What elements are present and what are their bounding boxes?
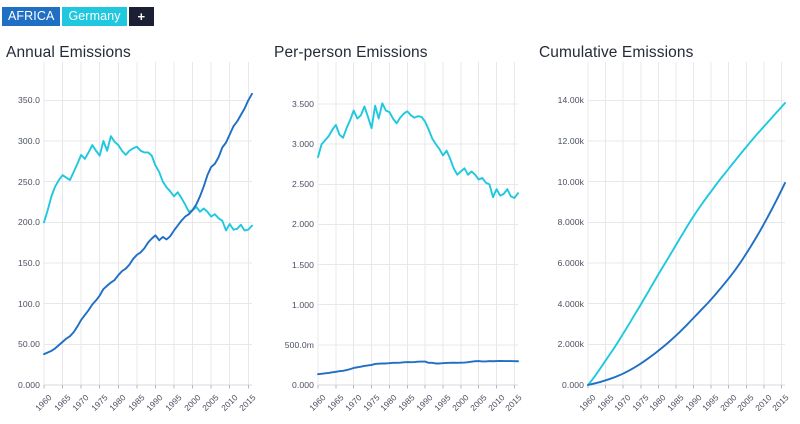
series-line-africa [44,94,252,354]
tag-germany[interactable]: Germany [62,7,126,26]
y-tick-label: 3.500 [266,99,314,109]
x-tick-label: 1965 [577,392,615,424]
y-tick-label: 10.00k [532,177,584,187]
x-axis-labels-cumulative: 1960196519701975198019851990199520002005… [532,388,798,422]
y-tick-label: 8.000k [532,217,584,227]
tag-africa[interactable]: AFRICA [2,7,60,26]
panel-per-person-emissions: Per-person Emissions 0.000500.0m1.0001.5… [266,36,532,424]
y-tick-label: 12.00k [532,136,584,146]
y-tick-label: 14.00k [532,95,584,105]
y-tick-label: 500.0m [266,340,314,350]
x-tick-label: 1970 [595,392,633,424]
plot-cumulative-emissions [588,80,785,385]
chart-svg-annual [44,80,252,385]
y-tick-label: 350.0 [0,95,40,105]
series-line-germany [588,103,785,385]
x-tick-label: 1980 [630,392,668,424]
x-tick-label: 1990 [665,392,703,424]
x-tick-label: 1985 [108,392,146,424]
y-tick-label: 1.500 [266,260,314,270]
x-tick-label: 1980 [361,392,399,424]
x-tick-label: 1970 [53,392,91,424]
x-tick-label: 1960 [289,392,327,424]
y-tick-label: 100.0 [0,299,40,309]
panel-annual-emissions: Annual Emissions 0.00050.00100.0150.0200… [0,36,266,424]
x-tick-label: 1960 [15,392,53,424]
y-tick-label: 2.000 [266,219,314,229]
x-axis-labels-annual: 1960196519701975198019851990199520002005… [0,388,266,422]
x-tick-label: 2015 [220,392,258,424]
x-tick-label: 1960 [559,392,597,424]
y-tick-label: 50.00 [0,339,40,349]
x-tick-label: 1990 [127,392,165,424]
x-tick-label: 1985 [647,392,685,424]
plot-per-person-emissions [318,80,518,385]
x-tick-label: 1980 [90,392,128,424]
add-series-button[interactable]: + [129,7,155,26]
series-line-africa [588,183,785,385]
panel-title-per-person: Per-person Emissions [274,44,428,62]
y-tick-label: 150.0 [0,258,40,268]
x-tick-label: 2005 [183,392,221,424]
panel-title-annual: Annual Emissions [6,44,131,62]
x-tick-label: 2015 [753,392,791,424]
y-tick-label: 1.000 [266,300,314,310]
panel-cumulative-emissions: Cumulative Emissions 0.0002.000k4.000k6.… [532,36,798,424]
dashboard-page: AFRICA Germany + Annual Emissions 0.0005… [0,0,800,424]
x-tick-label: 1995 [683,392,721,424]
x-tick-label: 1990 [397,392,435,424]
chart-svg-cumulative [588,80,785,385]
y-tick-label: 3.000 [266,139,314,149]
x-tick-label: 1975 [343,392,381,424]
x-tick-label: 1975 [71,392,109,424]
y-tick-label: 4.000k [532,299,584,309]
x-tick-label: 2000 [700,392,738,424]
x-tick-label: 2000 [432,392,470,424]
x-tick-label: 1965 [34,392,72,424]
y-tick-label: 0.000 [0,380,40,390]
x-tick-label: 2005 [718,392,756,424]
y-tick-label: 250.0 [0,177,40,187]
y-tick-label: 300.0 [0,136,40,146]
x-tick-label: 1965 [307,392,345,424]
y-tick-label: 0.000 [266,380,314,390]
x-tick-label: 2010 [735,392,773,424]
y-tick-label: 2.000k [532,339,584,349]
x-tick-label: 1975 [612,392,650,424]
y-tick-label: 2.500 [266,179,314,189]
x-tick-label: 1985 [379,392,417,424]
tag-filter-bar: AFRICA Germany + [2,7,154,26]
x-axis-labels-per-person: 1960196519701975198019851990199520002005… [266,388,532,422]
x-tick-label: 2000 [164,392,202,424]
series-line-africa [318,361,518,374]
x-tick-label: 2010 [201,392,239,424]
y-tick-label: 0.000 [532,380,584,390]
x-tick-label: 1970 [325,392,363,424]
y-tick-label: 200.0 [0,217,40,227]
chart-svg-per-person [318,80,518,385]
series-line-germany [318,103,518,198]
x-tick-label: 2015 [486,392,524,424]
plot-annual-emissions [44,80,252,385]
x-tick-label: 1995 [145,392,183,424]
charts-row: Annual Emissions 0.00050.00100.0150.0200… [0,36,800,424]
panel-title-cumulative: Cumulative Emissions [539,44,693,62]
x-tick-label: 2010 [468,392,506,424]
y-tick-label: 6.000k [532,258,584,268]
x-tick-label: 1995 [414,392,452,424]
x-tick-label: 2005 [450,392,488,424]
